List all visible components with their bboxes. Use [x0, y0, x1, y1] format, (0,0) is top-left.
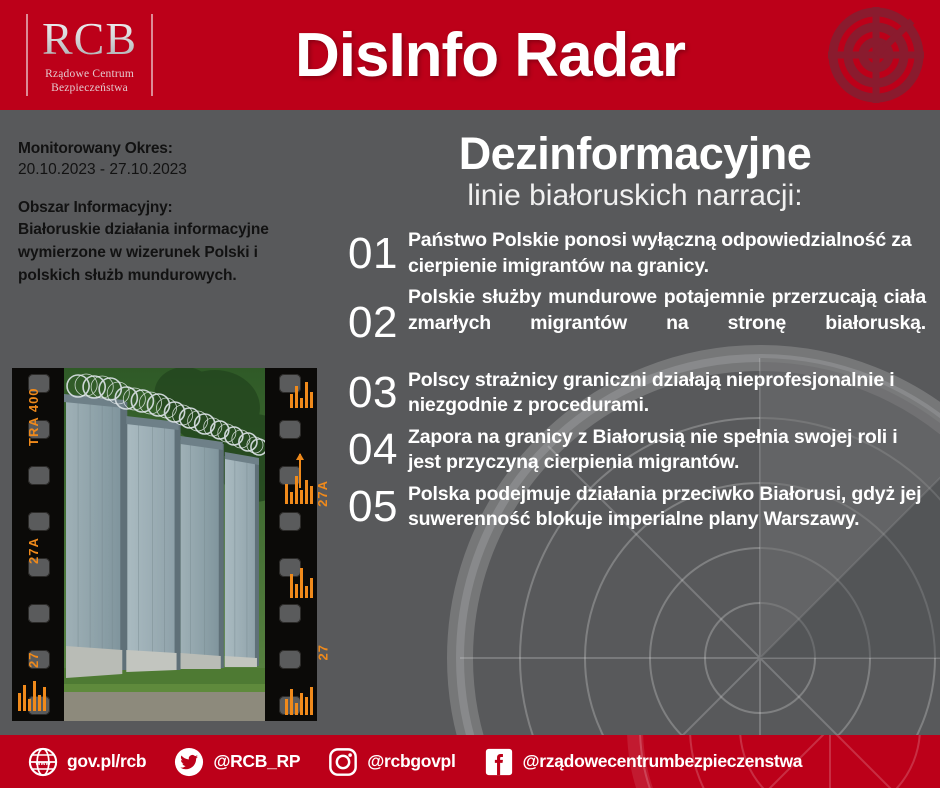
- film-barcode-left: [18, 681, 46, 711]
- footer-link-facebook[interactable]: @rządowecentrumbezpieczenstwa: [484, 747, 803, 777]
- globe-icon: www: [28, 747, 58, 777]
- footer-link-twitter[interactable]: @RCB_RP: [174, 747, 300, 777]
- list-item-text: Polscy strażnicy graniczni działają niep…: [408, 368, 932, 419]
- monitored-period-label: Monitorowany Okres:: [18, 138, 308, 159]
- film-edge-right: 27A 27: [265, 368, 317, 721]
- information-area-value: Białoruskie działania informacyjne wymie…: [18, 218, 308, 287]
- list-item-number: 01: [338, 230, 408, 278]
- list-item: 01 Państwo Polskie ponosi wyłączną odpow…: [338, 228, 932, 279]
- list-item-text: Polskie służby mundurowe potajemnie prze…: [408, 285, 932, 362]
- footer-bar: www gov.pl/rcb @RCB_RP @rcbgovpl: [0, 735, 940, 788]
- facebook-icon: [484, 747, 514, 777]
- monitored-period-block: Monitorowany Okres: 20.10.2023 - 27.10.2…: [18, 138, 308, 181]
- sidebar: Monitorowany Okres: 20.10.2023 - 27.10.2…: [0, 110, 330, 735]
- twitter-icon: [174, 747, 204, 777]
- list-item-number: 05: [338, 483, 408, 531]
- film-mark-right-27: 27: [315, 644, 330, 660]
- narrative-list: 01 Państwo Polskie ponosi wyłączną odpow…: [338, 228, 932, 533]
- list-item: 04 Zapora na granicy z Białorusią nie sp…: [338, 425, 932, 476]
- film-mark-right-27a: 27A: [315, 480, 330, 507]
- film-edge-left: TRA 400 27A 27: [12, 368, 64, 721]
- film-barcode-right-a: [290, 382, 313, 408]
- information-area-block: Obszar Informacyjny: Białoruskie działan…: [18, 197, 308, 287]
- header-bar: RCB Rządowe Centrum Bezpieczeństwa DisIn…: [0, 0, 940, 110]
- film-mark-left-27: 27: [26, 652, 41, 668]
- film-strip-photo: TRA 400 27A 27: [12, 368, 317, 721]
- film-barcode-right-d: [285, 687, 313, 715]
- footer-link-instagram-label: @rcbgovpl: [367, 751, 455, 772]
- list-item: 03 Polscy strażnicy graniczni działają n…: [338, 368, 932, 419]
- list-item: 02 Polskie służby mundurowe potajemnie p…: [338, 285, 932, 362]
- list-item-number: 03: [338, 369, 408, 417]
- list-item-number: 04: [338, 426, 408, 474]
- main-subheading: linie białoruskich narracji:: [338, 178, 932, 214]
- monitored-period-value: 20.10.2023 - 27.10.2023: [18, 159, 308, 181]
- photo-border-wall: [64, 368, 265, 721]
- list-item: 05 Polska podejmuje działania przeciwko …: [338, 482, 932, 533]
- film-mark-left-27a: 27A: [26, 537, 41, 564]
- footer-link-facebook-label: @rządowecentrumbezpieczenstwa: [523, 751, 803, 772]
- footer-link-instagram[interactable]: @rcbgovpl: [328, 747, 455, 777]
- information-area-label: Obszar Informacyjny:: [18, 197, 308, 218]
- film-barcode-right-c: [290, 568, 313, 598]
- footer-link-website[interactable]: www gov.pl/rcb: [28, 747, 146, 777]
- infographic-page: RCB Rządowe Centrum Bezpieczeństwa DisIn…: [0, 0, 940, 788]
- instagram-icon: [328, 747, 358, 777]
- page-title: DisInfo Radar: [0, 0, 940, 110]
- list-item-text: Zapora na granicy z Białorusią nie spełn…: [408, 425, 932, 476]
- footer-link-twitter-label: @RCB_RP: [213, 751, 300, 772]
- list-item-text: Polska podejmuje działania przeciwko Bia…: [408, 482, 932, 533]
- list-item-text: Państwo Polskie ponosi wyłączną odpowied…: [408, 228, 932, 279]
- svg-text:www: www: [34, 759, 51, 766]
- list-item-number: 02: [338, 299, 408, 347]
- main-content: Dezinformacyjne linie białoruskich narra…: [334, 110, 940, 735]
- radar-target-icon: [824, 5, 928, 105]
- sprocket-holes-right: [279, 374, 301, 715]
- main-heading: Dezinformacyjne: [338, 128, 932, 180]
- footer-link-website-label: gov.pl/rcb: [67, 751, 146, 772]
- film-barcode-right-b: [285, 476, 313, 504]
- film-mark-tra400: TRA 400: [26, 387, 41, 446]
